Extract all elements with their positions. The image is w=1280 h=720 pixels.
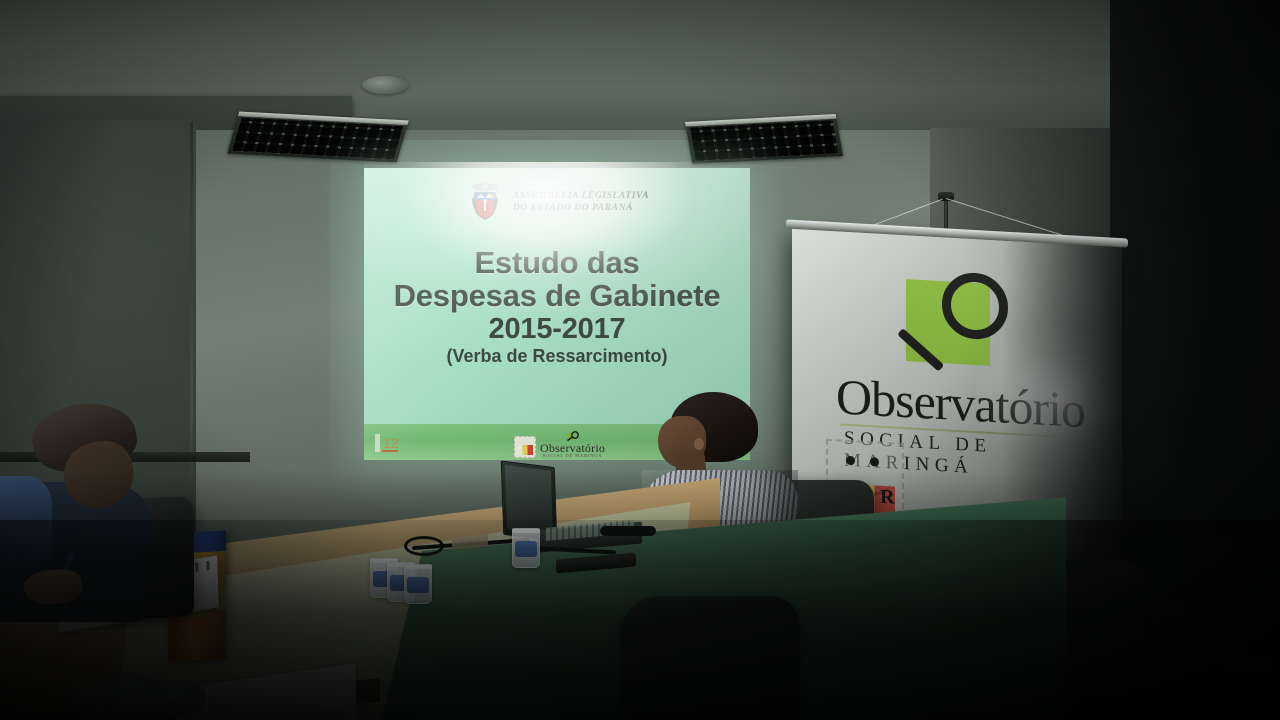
parana-coat-of-arms-icon [465, 180, 505, 226]
outlet-slot [1238, 656, 1241, 663]
office-chair [620, 596, 800, 720]
slide-footer-center-logos: Observatório SOCIAL DE MARINGÁ [514, 430, 605, 459]
slide-title-line1: Estudo das [364, 246, 750, 279]
slide-footer-org-sub: SOCIAL DE MARINGÁ [543, 454, 602, 459]
magnifying-glass-icon [566, 430, 580, 441]
slide-footer-left-logo: 12 [373, 430, 407, 456]
ear [694, 438, 704, 450]
cup-print [407, 577, 429, 593]
magnifying-glass-logo-icon [888, 268, 1020, 381]
person-writing-left [0, 404, 190, 644]
slide-header-line1: ASSEMBLEIA LEGISLATIVA [513, 191, 649, 203]
stamp-eye [870, 457, 879, 467]
cup-rim [404, 565, 432, 569]
ceiling-light-icon [227, 111, 408, 162]
power-outlet[interactable] [1228, 650, 1246, 672]
slide-title-line3: 2015-2017 [364, 313, 750, 345]
outlet-slot [1260, 666, 1263, 673]
stamp-color-bars [517, 445, 533, 455]
meeting-room-photo: ASSEMBLEIA LEGISLATIVA DO ESTADO DO PARA… [0, 0, 1280, 720]
observatorio-mini-logo: Observatório SOCIAL DE MARINGÁ [540, 430, 605, 459]
slide-header-line2: DO ESTADO DO PARANÁ [513, 203, 649, 215]
ser-stamp-icon [514, 436, 536, 458]
cup-print [515, 541, 537, 557]
slide-subtitle: (Verba de Ressarcimento) [364, 346, 750, 367]
denim-sleeve [0, 476, 52, 568]
cable-loop [404, 536, 444, 556]
power-brick [600, 526, 656, 536]
slide-header-text: ASSEMBLEIA LEGISLATIVA DO ESTADO DO PARA… [513, 191, 649, 214]
svg-text:12: 12 [383, 435, 399, 451]
slide-title-block: Estudo das Despesas de Gabinete 2015-201… [364, 246, 750, 367]
outlet-slot [1232, 656, 1235, 663]
power-outlet[interactable] [1250, 660, 1268, 682]
stamp-eye [846, 456, 855, 466]
plastic-cup [404, 564, 432, 604]
stamp-letter-r: R [880, 486, 894, 510]
slide-footer-org-name: Observatório [540, 442, 605, 454]
plastic-cup [148, 680, 206, 716]
cup-rim [512, 529, 540, 533]
cup-cluster [70, 670, 220, 718]
plastic-cup [512, 528, 540, 568]
slide-title-line2: Despesas de Gabinete [364, 279, 750, 312]
slide-header: ASSEMBLEIA LEGISLATIVA DO ESTADO DO PARA… [364, 180, 750, 226]
outlet-slot [1254, 666, 1257, 673]
light-louvers [690, 120, 838, 161]
ceiling-light-icon [685, 114, 843, 164]
smoke-detector-icon [362, 76, 408, 94]
light-louvers [232, 118, 403, 160]
laptop-screen [505, 465, 553, 535]
